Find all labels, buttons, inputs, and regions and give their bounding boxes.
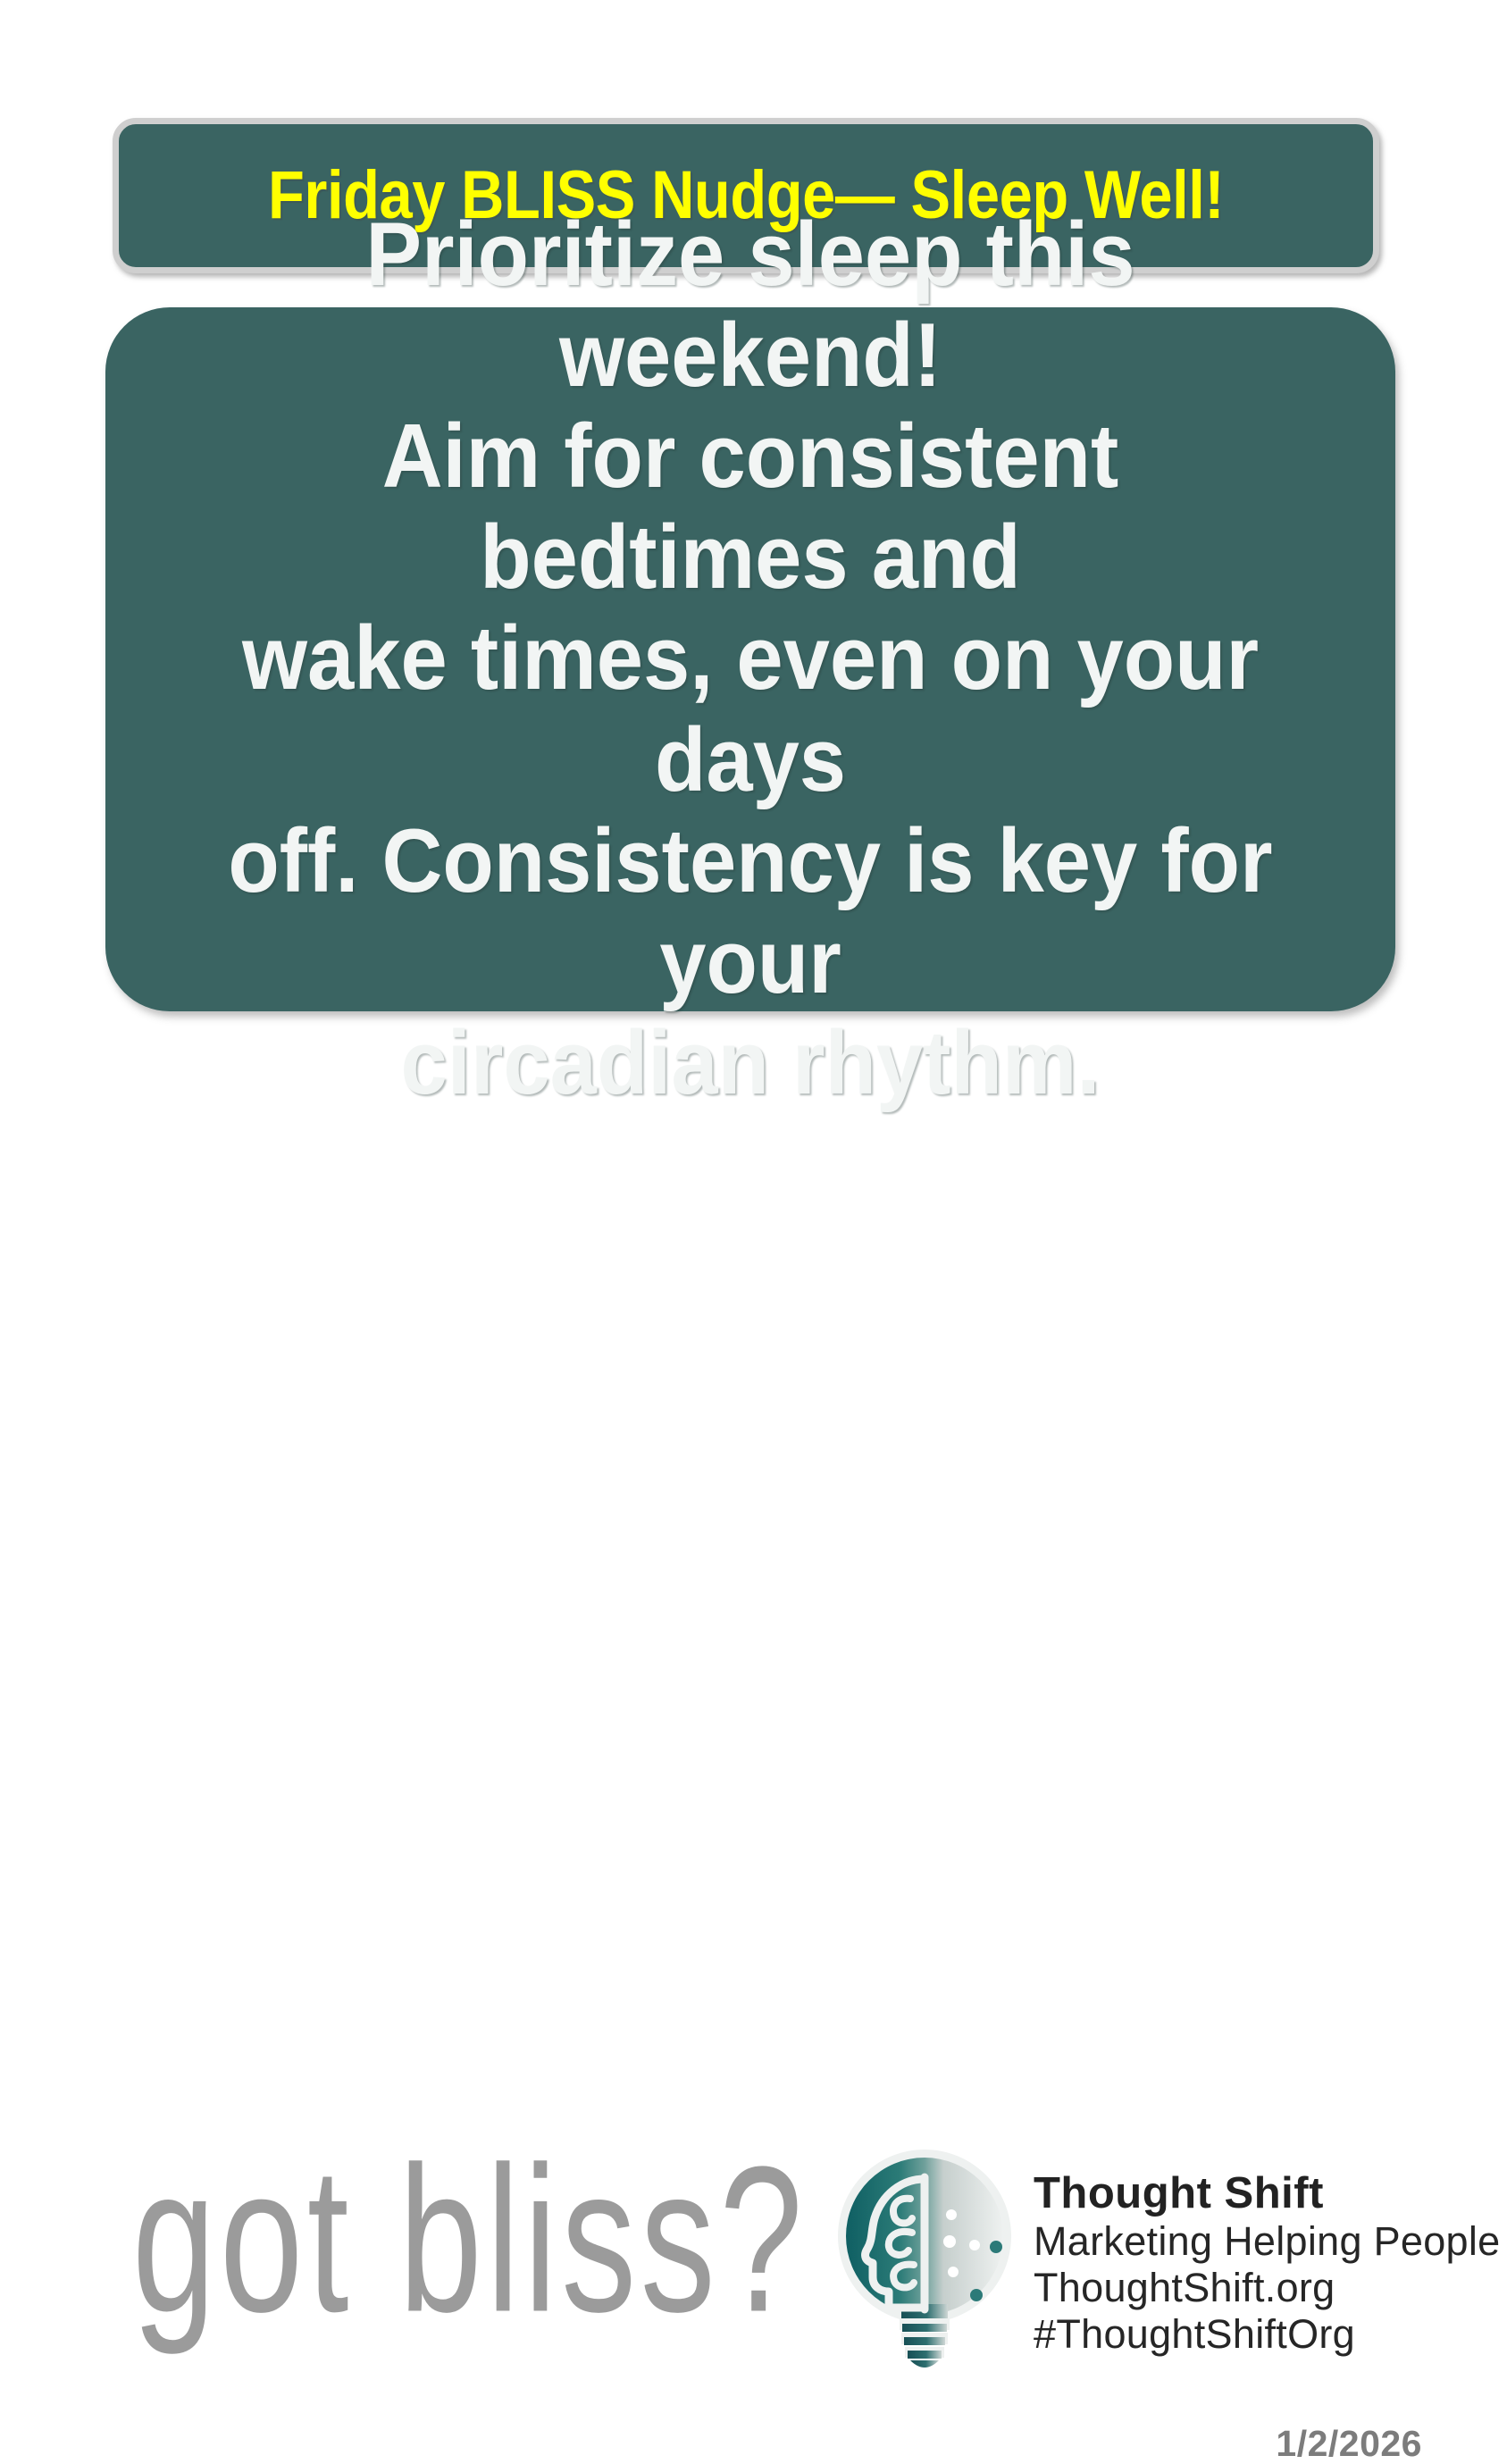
brand-website[interactable]: ThoughtShift.org — [1034, 2265, 1409, 2311]
brand-tagline: Marketing Helping People — [1034, 2218, 1409, 2265]
brand-hashtag: #ThoughtShiftOrg — [1034, 2311, 1409, 2358]
date-stamp: 1/2/2026 — [1276, 2426, 1422, 2462]
message-card: Prioritize sleep this weekend! Aim for c… — [105, 307, 1395, 1011]
message-line: Aim for consistent bedtimes and — [196, 406, 1305, 608]
brand-name: Thought Shift — [1034, 2169, 1409, 2218]
brand-block: Thought Shift Marketing Helping People T… — [1034, 2169, 1409, 2358]
message-line: Prioritize sleep this weekend! — [196, 205, 1305, 406]
footer: got bliss? — [0, 1050, 1507, 1507]
message-line: wake times, even on your days — [196, 608, 1305, 810]
message-line: off. Consistency is key for your — [196, 811, 1305, 1013]
got-bliss-tagline: got bliss? — [132, 2135, 620, 2342]
message-text: Prioritize sleep this weekend! Aim for c… — [196, 205, 1305, 1114]
slide-canvas: Friday BLISS Nudge— Sleep Well! Prioriti… — [0, 0, 1507, 1507]
brain-lightbulb-icon — [835, 2147, 1014, 2381]
